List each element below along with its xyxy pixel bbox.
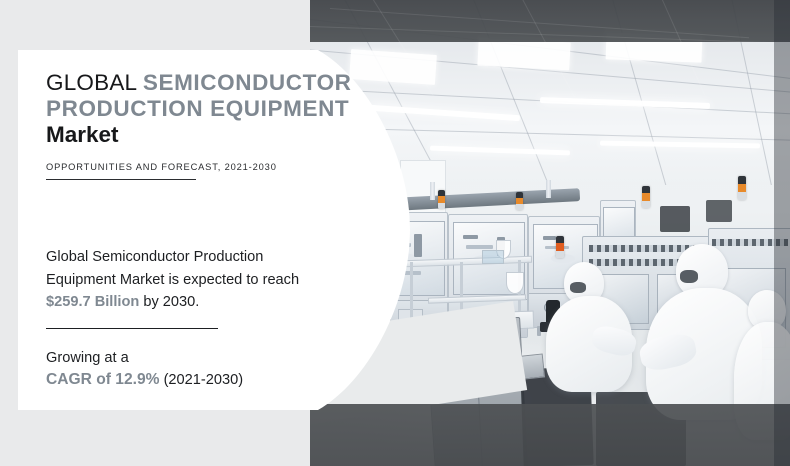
signal-tower [642,186,650,208]
control-box [706,200,732,222]
signal-tower [738,176,746,200]
subtitle: OPPORTUNITIES AND FORECAST, 2021-2030 [46,162,376,172]
technician [546,262,632,392]
signal-tower [438,190,445,209]
cagr-value: CAGR of 12.9% [46,371,160,388]
growth-summary: Growing at a CAGR of 12.9% (2021-2030) [46,347,376,392]
duct-post [546,180,551,198]
summary-text-after: by 2030. [139,294,199,310]
control-box [660,206,690,232]
bottom-dark-band [310,404,790,466]
banner-stage: GLOBAL SEMICONDUCTOR PRODUCTION EQUIPMEN… [0,0,790,466]
section-divider [46,328,218,329]
top-dark-band [310,0,790,42]
market-summary: Global Semiconductor Production Equipmen… [46,246,318,314]
glassware [506,272,524,294]
growth-lead: Growing at a [46,350,129,366]
title-line-production-equipment: PRODUCTION EQUIPMENT [46,96,376,122]
page-title: GLOBAL SEMICONDUCTOR PRODUCTION EQUIPMEN… [46,70,376,148]
title-word-market: Market [46,122,376,148]
cagr-period: (2021-2030) [160,372,244,388]
signal-tower [516,192,523,210]
subtitle-divider [46,179,196,180]
summary-text-before: Global Semiconductor Production Equipmen… [46,249,299,288]
content-card: GLOBAL SEMICONDUCTOR PRODUCTION EQUIPMEN… [18,50,410,410]
signal-tower [556,236,564,258]
right-dark-strip [774,0,790,466]
title-word-global: GLOBAL [46,70,143,95]
liquid-container [482,250,504,264]
title-word-semiconductor: SEMICONDUCTOR [143,70,352,95]
market-value: $259.7 Billion [46,294,139,310]
duct-post [430,182,435,200]
